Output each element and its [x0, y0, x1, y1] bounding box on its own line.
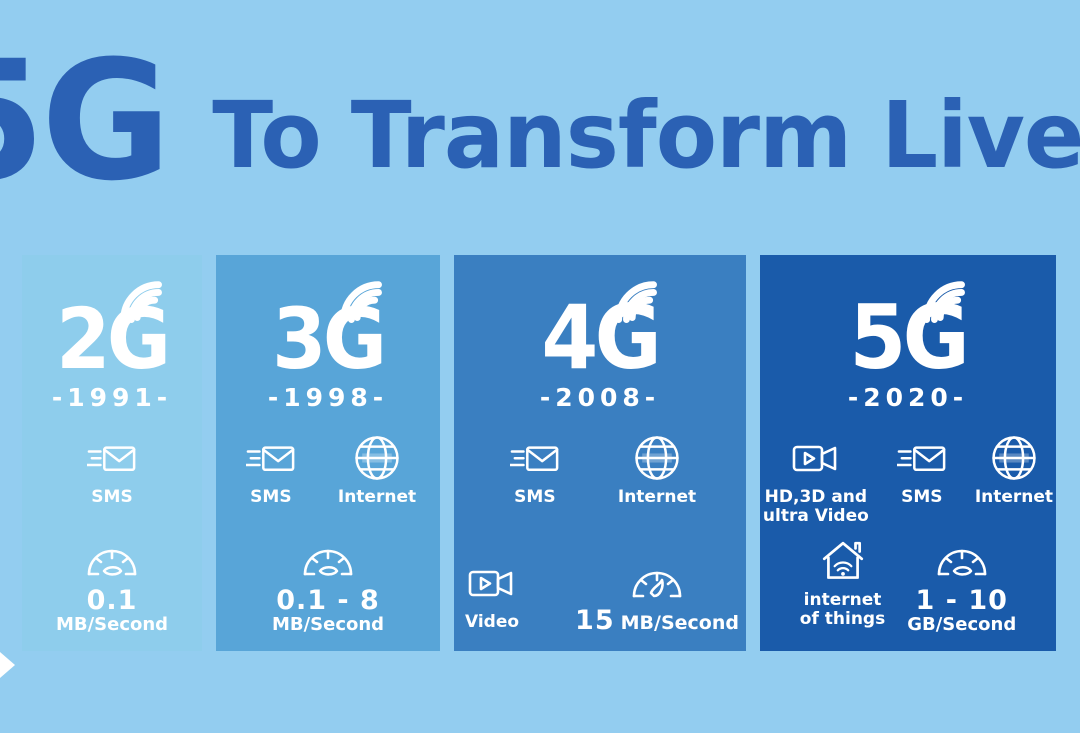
generation-header: 5G	[845, 281, 970, 373]
feature-label: SMS	[250, 488, 291, 507]
feature-label: Internet	[338, 488, 416, 507]
card-2g[interactable]: 2G -1991- SMS	[22, 255, 202, 651]
generation-header: 2G	[52, 281, 171, 373]
generation-header: 4G	[537, 281, 662, 373]
speed-block[interactable]: 0.1 - 8 MB/Second	[272, 539, 384, 635]
feature-label: Internet	[618, 488, 696, 507]
feature-label: Internet	[975, 488, 1053, 507]
feature-label: SMS	[901, 488, 942, 507]
wifi-signal-icon	[609, 275, 671, 337]
feature-label: internet of things	[800, 591, 885, 629]
globe-icon	[989, 436, 1039, 480]
feature-label: SMS	[91, 488, 132, 507]
sms-icon	[510, 436, 560, 480]
feature-label: Video	[465, 613, 519, 632]
feature-row-primary: SMS	[22, 436, 202, 507]
video-camera-icon	[791, 436, 841, 480]
card-5g[interactable]: 5G -2020- HD,3D	[760, 255, 1056, 651]
speed-value: 15	[575, 607, 615, 635]
smart-home-icon	[818, 539, 868, 583]
speedometer-icon	[300, 539, 356, 583]
speed-unit: MB/Second	[56, 615, 168, 635]
wifi-signal-icon	[114, 275, 176, 337]
speedometer-icon	[629, 561, 685, 605]
feature-video[interactable]: Video	[461, 561, 523, 632]
generation-cards: 2G -1991- SMS	[22, 255, 1058, 651]
generation-header: 3G	[268, 281, 387, 373]
card-3g[interactable]: 3G -1998- SMS	[216, 255, 440, 651]
feature-internet[interactable]: Internet	[975, 436, 1053, 507]
speed-block[interactable]: 15 MB/Second	[575, 561, 739, 635]
feature-internet-of-things[interactable]: internet of things	[800, 539, 885, 629]
speed-row: Video 15 MB/Second	[454, 561, 746, 635]
speed-row: 0.1 MB/Second	[22, 539, 202, 635]
sms-icon	[87, 436, 137, 480]
feature-label: SMS	[514, 488, 555, 507]
left-arrow-marker	[0, 652, 15, 678]
page-title: 5G To Transform Lives	[0, 34, 1080, 209]
speedometer-icon	[84, 539, 140, 583]
feature-sms[interactable]: SMS	[504, 436, 566, 507]
speed-text: 15 MB/Second	[575, 605, 739, 635]
title-highlight: 5G	[0, 51, 167, 191]
feature-label: HD,3D and ultra Video	[763, 488, 869, 526]
speed-block[interactable]: 0.1 MB/Second	[56, 539, 168, 635]
feature-sms[interactable]: SMS	[240, 436, 302, 507]
infographic-canvas: 5G To Transform Lives 2G -1991-	[0, 0, 1080, 733]
speed-unit: GB/Second	[907, 615, 1016, 635]
feature-internet[interactable]: Internet	[618, 436, 696, 507]
speed-block[interactable]: 1 - 10 GB/Second	[907, 539, 1016, 635]
speed-unit: MB/Second	[272, 615, 384, 635]
speed-row: internet of things 1 - 10 GB/Second	[760, 539, 1056, 635]
wifi-signal-icon	[334, 275, 396, 337]
sms-icon	[246, 436, 296, 480]
speed-value: 0.1 - 8	[276, 587, 380, 615]
title-rest: To Transform Lives	[212, 90, 1080, 182]
globe-icon	[632, 436, 682, 480]
feature-internet[interactable]: Internet	[338, 436, 416, 507]
feature-row-primary: HD,3D and ultra Video SMS	[760, 436, 1056, 526]
feature-row-primary: SMS Internet	[454, 436, 746, 507]
speed-unit: MB/Second	[621, 613, 739, 634]
feature-row-primary: SMS Internet	[216, 436, 440, 507]
sms-icon	[897, 436, 947, 480]
feature-hd-video[interactable]: HD,3D and ultra Video	[763, 436, 869, 526]
card-4g[interactable]: 4G -2008- SMS	[454, 255, 746, 651]
feature-sms[interactable]: SMS	[81, 436, 143, 507]
wifi-signal-icon	[917, 275, 979, 337]
video-camera-icon	[467, 561, 517, 605]
feature-sms[interactable]: SMS	[891, 436, 953, 507]
speedometer-icon	[934, 539, 990, 583]
speed-value: 0.1	[87, 587, 138, 615]
speed-value: 1 - 10	[916, 587, 1008, 615]
globe-icon	[352, 436, 402, 480]
speed-row: 0.1 - 8 MB/Second	[216, 539, 440, 635]
